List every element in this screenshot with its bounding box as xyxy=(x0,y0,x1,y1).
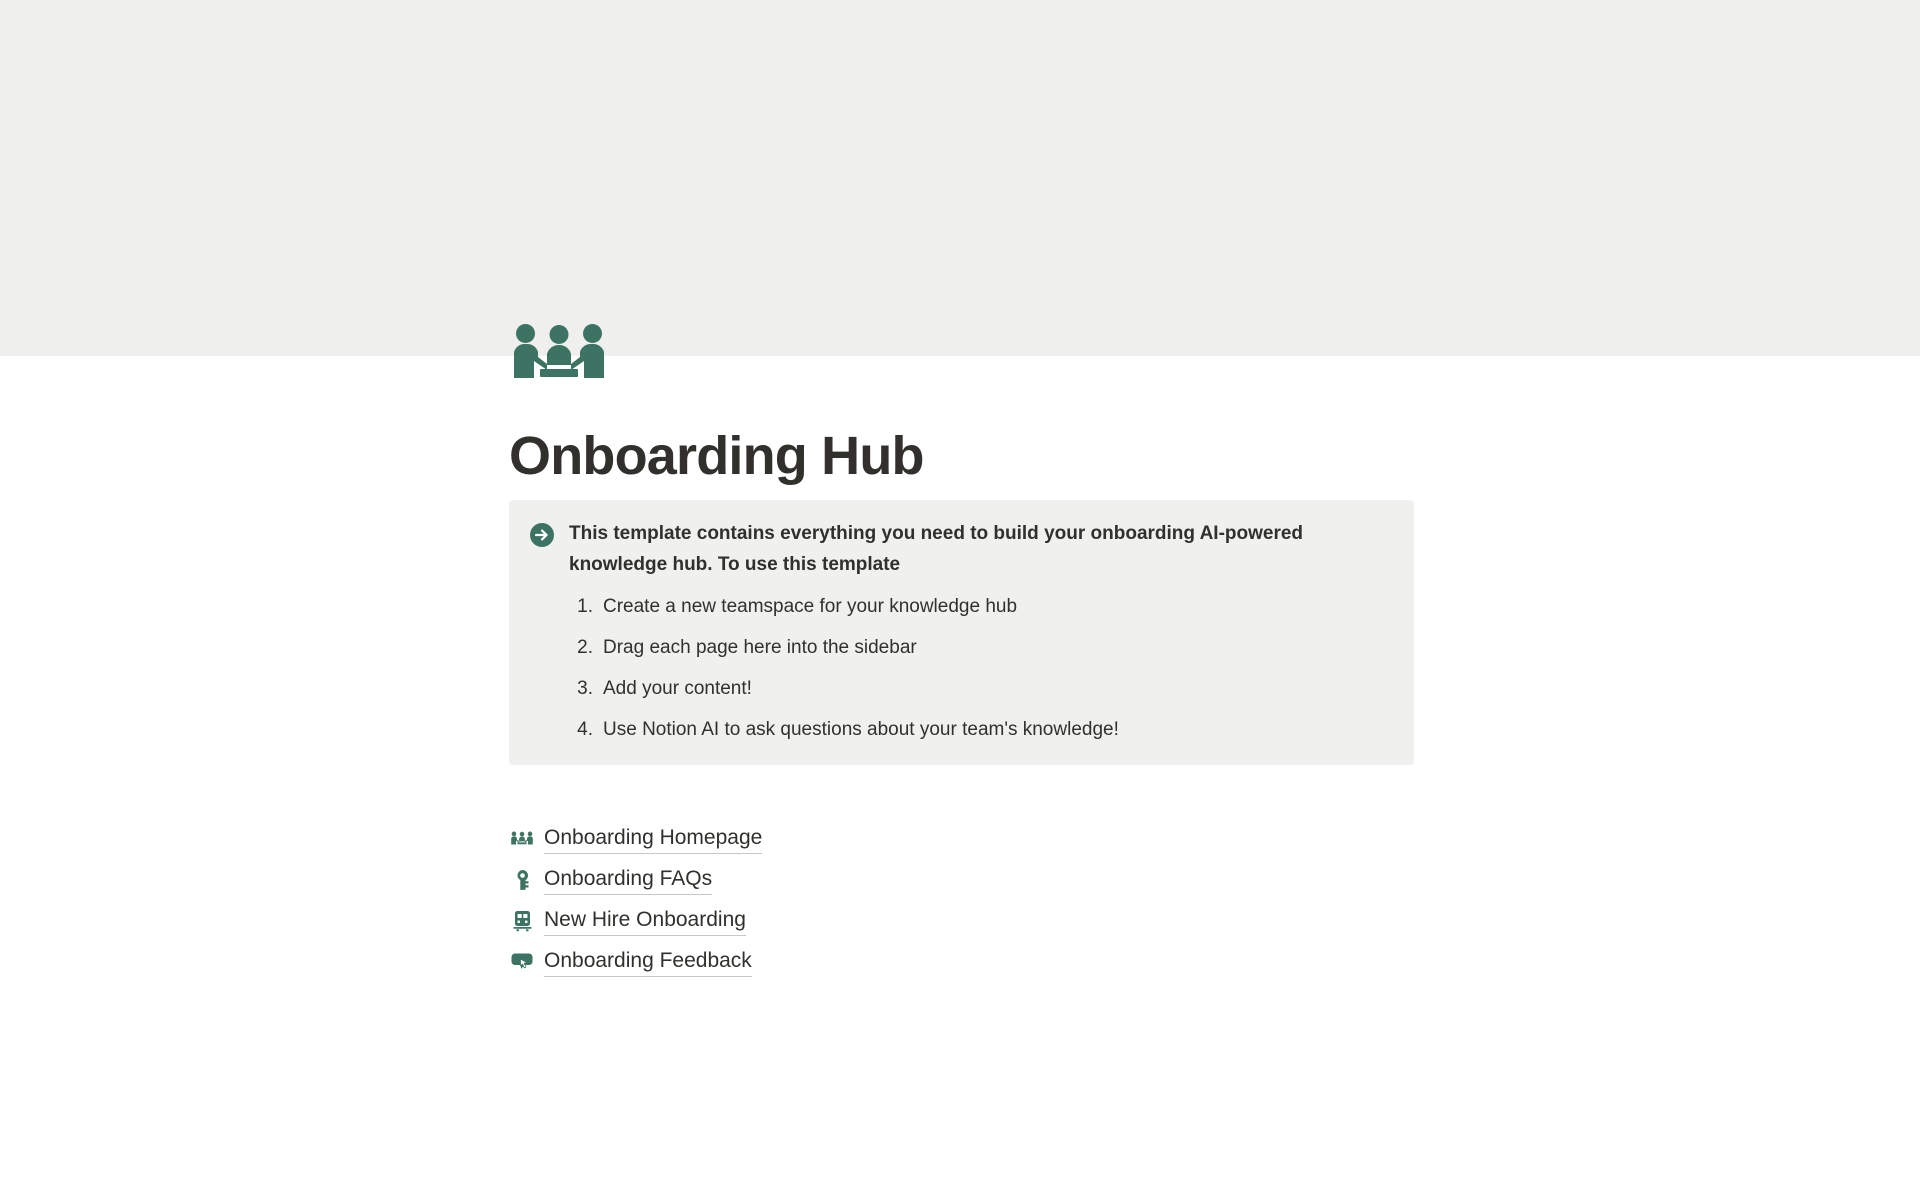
page-title[interactable]: Onboarding Hub xyxy=(509,425,924,487)
page-icon-people-at-table-icon[interactable] xyxy=(509,322,609,388)
arrow-right-circle-icon xyxy=(529,522,555,548)
notion-page: Onboarding Hub This template contains ev… xyxy=(0,0,1920,1199)
keyhole-person-icon xyxy=(509,867,535,893)
callout-block[interactable]: This template contains everything you ne… xyxy=(509,500,1414,765)
list-item-number: 3. xyxy=(569,676,593,702)
list-item[interactable]: 4. Use Notion AI to ask questions about … xyxy=(569,717,1394,743)
list-item-label: Create a new teamspace for your knowledg… xyxy=(603,596,1017,617)
list-item-label: Drag each page here into the sidebar xyxy=(603,637,917,658)
people-at-table-icon xyxy=(509,826,535,852)
tram-front-icon xyxy=(509,908,535,934)
callout-step-list: 1. Create a new teamspace for your knowl… xyxy=(569,594,1394,743)
page-link-label: New Hire Onboarding xyxy=(544,906,746,936)
page-link-label: Onboarding Feedback xyxy=(544,947,752,977)
list-item-number: 4. xyxy=(569,717,593,743)
page-link-label: Onboarding Homepage xyxy=(544,824,762,854)
page-link-onboarding-feedback[interactable]: Onboarding Feedback xyxy=(509,941,1414,982)
callout-heading: This template contains everything you ne… xyxy=(569,518,1374,580)
list-item-label: Add your content! xyxy=(603,678,752,699)
list-item-number: 1. xyxy=(569,594,593,620)
page-link-onboarding-homepage[interactable]: Onboarding Homepage xyxy=(509,818,1414,859)
list-item[interactable]: 2. Drag each page here into the sidebar xyxy=(569,635,1394,661)
list-item[interactable]: 1. Create a new teamspace for your knowl… xyxy=(569,594,1394,620)
list-item[interactable]: 3. Add your content! xyxy=(569,676,1394,702)
list-item-label: Use Notion AI to ask questions about you… xyxy=(603,719,1119,740)
page-link-label: Onboarding FAQs xyxy=(544,865,712,895)
page-link-new-hire-onboarding[interactable]: New Hire Onboarding xyxy=(509,900,1414,941)
page-cover[interactable] xyxy=(0,0,1920,356)
list-item-number: 2. xyxy=(569,635,593,661)
callout-body: This template contains everything you ne… xyxy=(569,518,1394,743)
cursor-click-icon xyxy=(509,949,535,975)
page-link-list: Onboarding Homepage Onboarding FAQs xyxy=(509,818,1414,982)
page-link-onboarding-faqs[interactable]: Onboarding FAQs xyxy=(509,859,1414,900)
